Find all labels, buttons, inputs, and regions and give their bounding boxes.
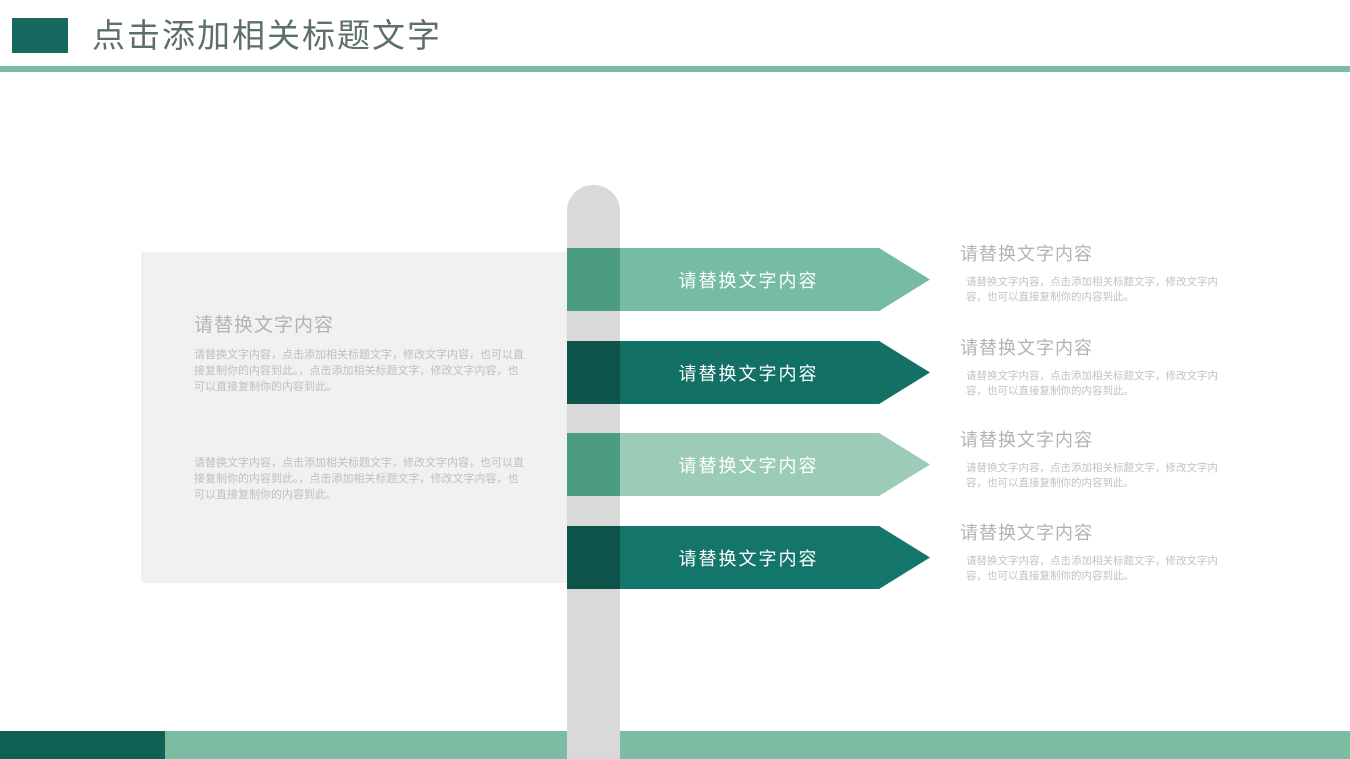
slide-header: 点击添加相关标题文字 (0, 0, 1350, 72)
footer-post-overlay (567, 731, 620, 759)
arrow-cap (567, 248, 620, 311)
arrow-label: 请替换文字内容 (620, 433, 877, 496)
left-block-body: 请替换文字内容，点击添加相关标题文字，修改文字内容，也可以直接复制你的内容到此。… (194, 455, 524, 503)
arrow-cap (567, 341, 620, 404)
left-description-panel: 请替换文字内容 请替换文字内容，点击添加相关标题文字，修改文字内容，也可以直接复… (141, 252, 567, 583)
arrow-cap (567, 526, 620, 589)
right-text-block: 请替换文字内容 请替换文字内容，点击添加相关标题文字，修改文字内容，也可以直接复… (960, 240, 1222, 305)
arrow-label: 请替换文字内容 (620, 341, 877, 404)
arrow-label: 请替换文字内容 (620, 526, 877, 589)
left-block-body: 请替换文字内容，点击添加相关标题文字，修改文字内容，也可以直接复制你的内容到此。… (194, 347, 524, 395)
right-block-body: 请替换文字内容，点击添加相关标题文字，修改文字内容，也可以直接复制你的内容到此。 (960, 369, 1222, 399)
footer-light-band (0, 731, 1350, 759)
right-block-heading: 请替换文字内容 (960, 519, 1222, 545)
arrow-cap (567, 433, 620, 496)
arrow-banner[interactable]: 请替换文字内容 (567, 341, 930, 404)
right-block-heading: 请替换文字内容 (960, 334, 1222, 360)
arrow-label: 请替换文字内容 (620, 248, 877, 311)
right-block-body: 请替换文字内容，点击添加相关标题文字，修改文字内容，也可以直接复制你的内容到此。 (960, 554, 1222, 584)
arrow-banner[interactable]: 请替换文字内容 (567, 526, 930, 589)
right-block-body: 请替换文字内容，点击添加相关标题文字，修改文字内容，也可以直接复制你的内容到此。 (960, 461, 1222, 491)
right-text-block: 请替换文字内容 请替换文字内容，点击添加相关标题文字，修改文字内容，也可以直接复… (960, 426, 1222, 491)
header-divider (0, 66, 1350, 72)
right-block-heading: 请替换文字内容 (960, 426, 1222, 452)
header-accent-square (12, 18, 68, 53)
footer-dark-band (0, 731, 165, 759)
right-text-block: 请替换文字内容 请替换文字内容，点击添加相关标题文字，修改文字内容，也可以直接复… (960, 519, 1222, 584)
left-block-heading: 请替换文字内容 (194, 310, 524, 337)
right-block-body: 请替换文字内容，点击添加相关标题文字，修改文字内容，也可以直接复制你的内容到此。 (960, 275, 1222, 305)
page-title: 点击添加相关标题文字 (92, 10, 442, 62)
slide-footer (0, 731, 1350, 759)
arrow-banner[interactable]: 请替换文字内容 (567, 433, 930, 496)
left-text-block: 请替换文字内容 请替换文字内容，点击添加相关标题文字，修改文字内容，也可以直接复… (194, 310, 524, 395)
left-text-block: 请替换文字内容，点击添加相关标题文字，修改文字内容，也可以直接复制你的内容到此。… (194, 455, 524, 503)
right-text-block: 请替换文字内容 请替换文字内容，点击添加相关标题文字，修改文字内容，也可以直接复… (960, 334, 1222, 399)
right-block-heading: 请替换文字内容 (960, 240, 1222, 266)
arrow-banner[interactable]: 请替换文字内容 (567, 248, 930, 311)
